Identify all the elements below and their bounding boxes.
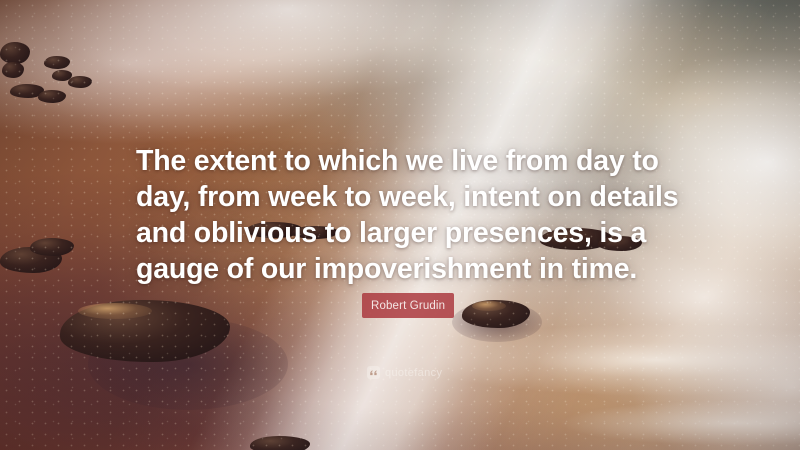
quote-line-2: day, from week to week, intent on detail…: [136, 179, 680, 215]
quote-text-block: The extent to which we live from day to …: [136, 143, 680, 287]
quote-mark-icon: [367, 366, 380, 379]
quotefancy-label: quotefancy: [385, 367, 442, 379]
author-badge[interactable]: Robert Grudin: [362, 293, 454, 318]
quote-line-3: and oblivious to larger presences, is a: [136, 215, 680, 251]
author-name: Robert Grudin: [371, 300, 445, 312]
quote-line-4: gauge of our impoverishment in time.: [136, 251, 680, 287]
quote-poster: The extent to which we live from day to …: [0, 0, 800, 450]
quotefancy-watermark[interactable]: quotefancy: [367, 366, 442, 379]
quote-line-1: The extent to which we live from day to: [136, 143, 680, 179]
